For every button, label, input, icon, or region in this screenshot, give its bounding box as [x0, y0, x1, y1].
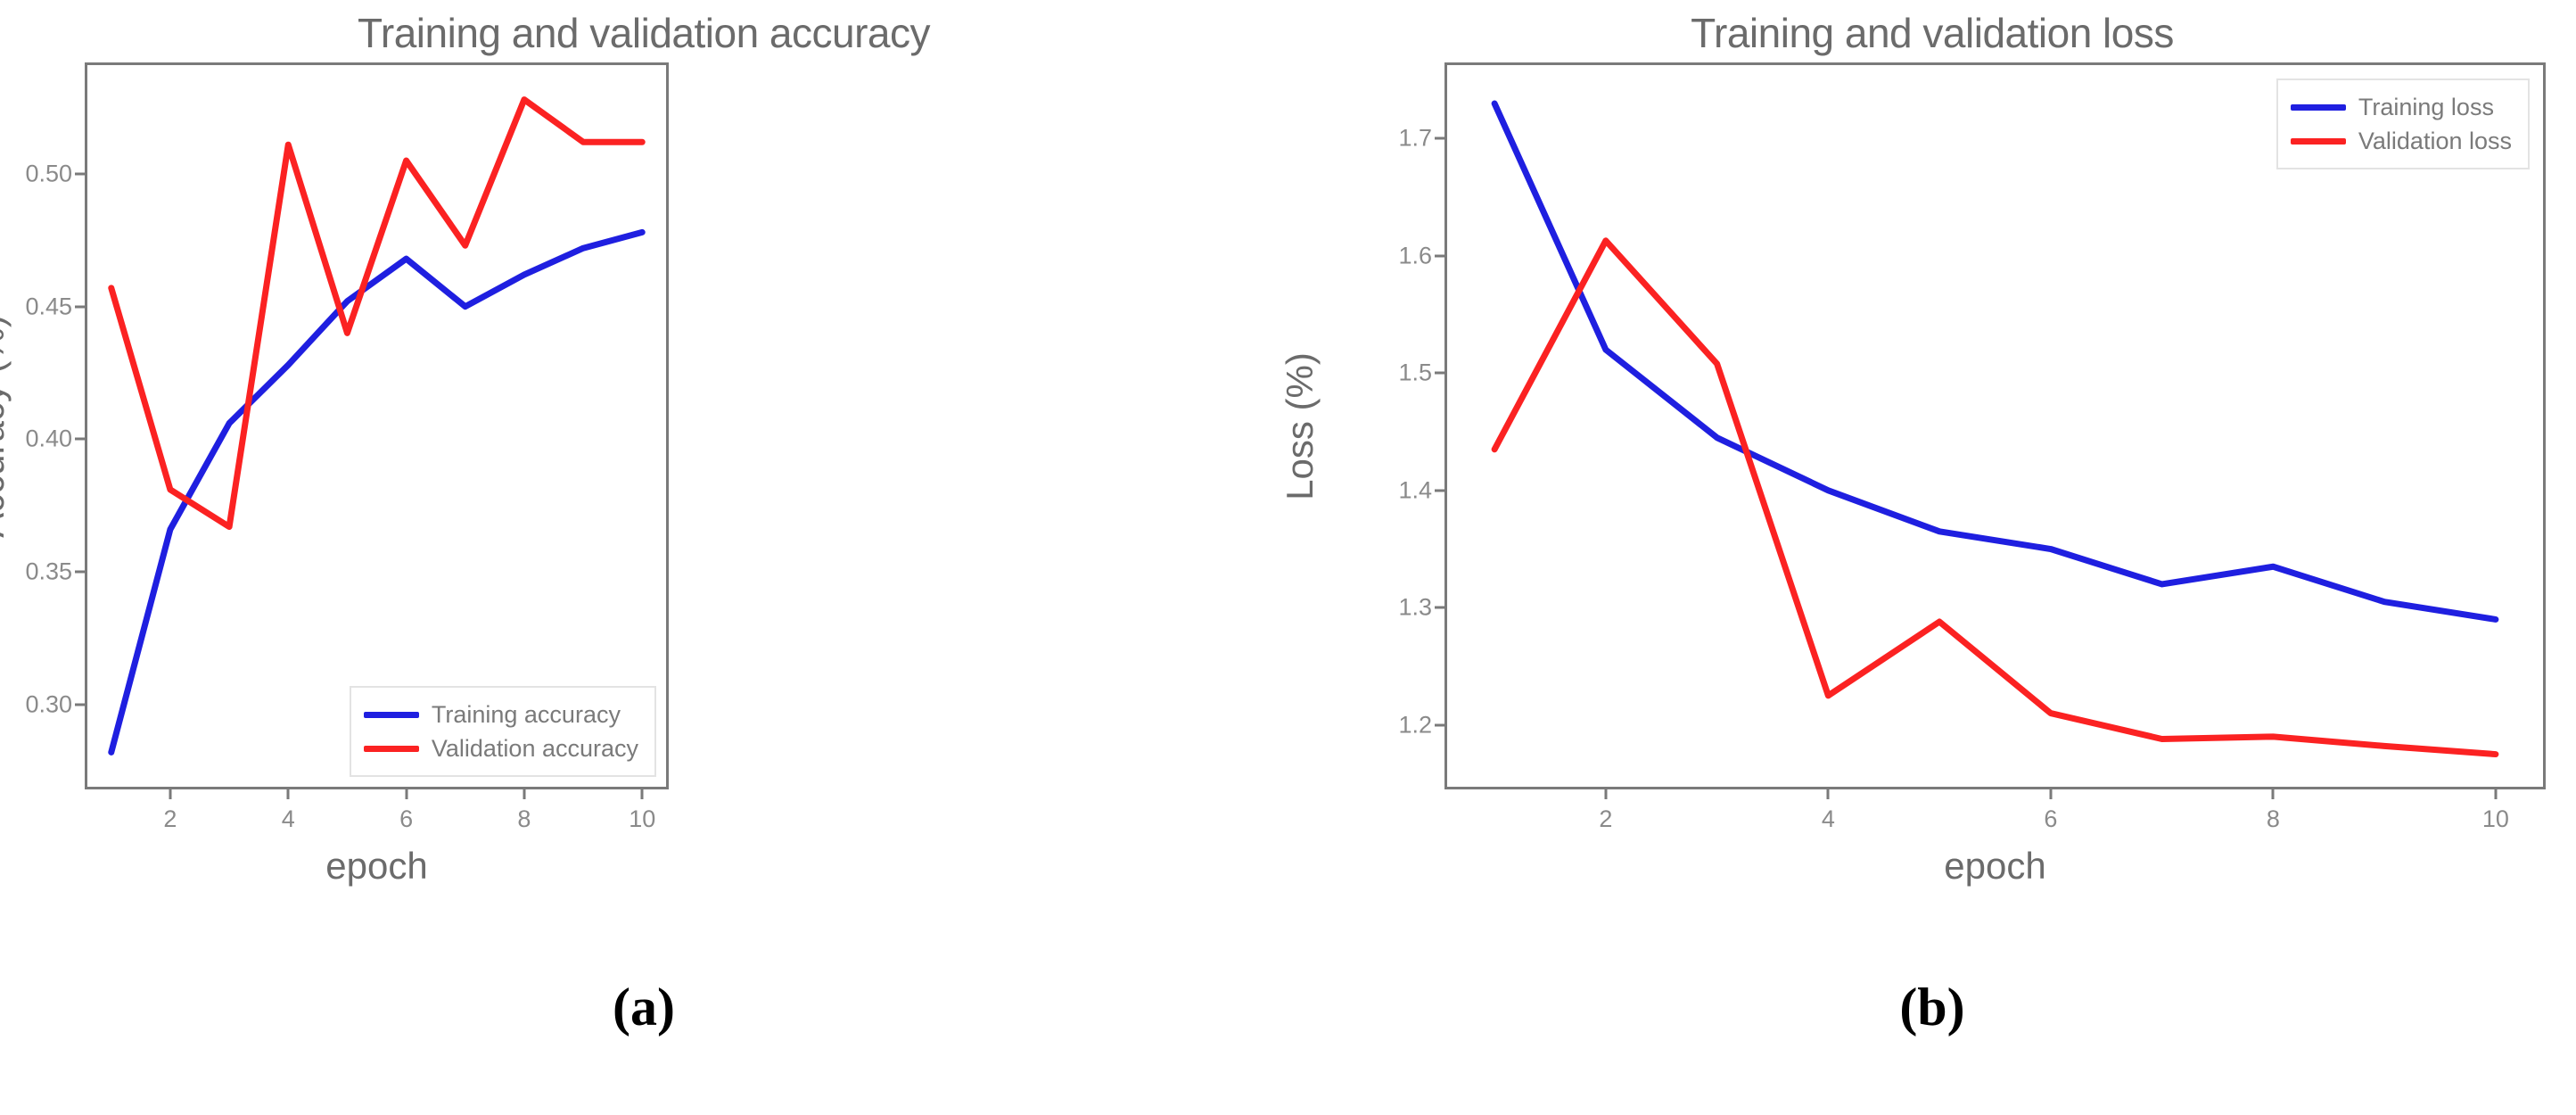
series-lines-accuracy — [85, 62, 669, 789]
legend-item-validation-loss: Validation loss — [2291, 124, 2512, 158]
x-tick-mark — [287, 789, 290, 799]
plot-area-accuracy: 0.300.350.400.450.50 246810 epoch Accura… — [85, 62, 669, 789]
subfigure-caption-b: (b) — [1288, 977, 2576, 1038]
y-tick-label: 1.6 — [1398, 242, 1432, 269]
panel-accuracy: Training and validation accuracy 0.300.3… — [0, 0, 1288, 1115]
legend-swatch-icon — [364, 712, 419, 718]
series-line — [111, 100, 642, 527]
y-tick-label: 0.30 — [25, 690, 72, 718]
y-axis-label-accuracy: Accuracy (%) — [0, 315, 12, 538]
y-tick-mark — [1435, 723, 1444, 726]
legend-item-training-accuracy: Training accuracy — [364, 698, 638, 731]
y-tick-label: 1.7 — [1398, 125, 1432, 153]
x-tick-mark — [523, 789, 525, 799]
y-tick-label: 0.40 — [25, 425, 72, 453]
series-lines-loss — [1444, 62, 2546, 789]
x-tick-label: 4 — [1822, 805, 1835, 833]
legend-swatch-icon — [2291, 138, 2346, 145]
x-tick-label: 6 — [399, 805, 413, 833]
y-tick-label: 1.2 — [1398, 711, 1432, 739]
y-tick-mark — [1435, 372, 1444, 375]
y-tick-mark — [75, 438, 85, 441]
legend-label-training-accuracy: Training accuracy — [432, 701, 621, 729]
legend-label-training-loss: Training loss — [2358, 94, 2494, 121]
legend-accuracy: Training accuracy Validation accuracy — [350, 686, 656, 777]
series-line — [1494, 241, 2496, 755]
y-tick-mark — [1435, 607, 1444, 609]
x-tick-mark — [2049, 789, 2052, 799]
legend-swatch-icon — [2291, 104, 2346, 111]
legend-item-validation-accuracy: Validation accuracy — [364, 731, 638, 765]
y-tick-label: 0.45 — [25, 293, 72, 320]
x-axis-label-accuracy: epoch — [85, 845, 669, 888]
series-line — [1494, 103, 2496, 619]
x-tick-label: 10 — [2482, 805, 2509, 833]
y-axis-label-loss: Loss (%) — [1279, 352, 1321, 500]
x-tick-mark — [1827, 789, 1830, 799]
figure-root: Training and validation accuracy 0.300.3… — [0, 0, 2576, 1115]
x-tick-label: 8 — [517, 805, 531, 833]
y-tick-label: 0.50 — [25, 160, 72, 187]
y-tick-mark — [1435, 489, 1444, 491]
y-tick-mark — [1435, 254, 1444, 257]
legend-label-validation-loss: Validation loss — [2358, 128, 2512, 155]
y-tick-label: 1.4 — [1398, 476, 1432, 504]
y-tick-mark — [1435, 137, 1444, 140]
y-tick-mark — [75, 172, 85, 175]
legend-swatch-icon — [364, 746, 419, 752]
x-tick-mark — [2272, 789, 2275, 799]
y-tick-mark — [75, 703, 85, 706]
x-tick-mark — [641, 789, 644, 799]
y-tick-mark — [75, 571, 85, 574]
series-line — [111, 232, 642, 752]
x-axis-label-loss: epoch — [1444, 845, 2546, 888]
x-tick-label: 8 — [2267, 805, 2280, 833]
x-tick-mark — [405, 789, 407, 799]
chart-title-accuracy: Training and validation accuracy — [0, 9, 1288, 57]
x-tick-label: 4 — [282, 805, 295, 833]
legend-label-validation-accuracy: Validation accuracy — [432, 735, 638, 763]
x-tick-mark — [169, 789, 171, 799]
chart-title-loss: Training and validation loss — [1288, 9, 2576, 57]
y-tick-label: 1.3 — [1398, 594, 1432, 622]
y-tick-label: 0.35 — [25, 558, 72, 586]
y-tick-mark — [75, 305, 85, 308]
x-tick-label: 6 — [2044, 805, 2057, 833]
legend-loss: Training loss Validation loss — [2276, 78, 2530, 169]
subfigure-caption-a: (a) — [0, 977, 1288, 1038]
x-tick-label: 10 — [629, 805, 655, 833]
legend-item-training-loss: Training loss — [2291, 90, 2512, 124]
y-tick-label: 1.5 — [1398, 359, 1432, 387]
x-tick-label: 2 — [1599, 805, 1612, 833]
plot-area-loss: 1.21.31.41.51.61.7 246810 epoch Loss (%)… — [1444, 62, 2546, 789]
x-tick-label: 2 — [163, 805, 177, 833]
x-tick-mark — [1604, 789, 1607, 799]
x-tick-mark — [2494, 789, 2497, 799]
